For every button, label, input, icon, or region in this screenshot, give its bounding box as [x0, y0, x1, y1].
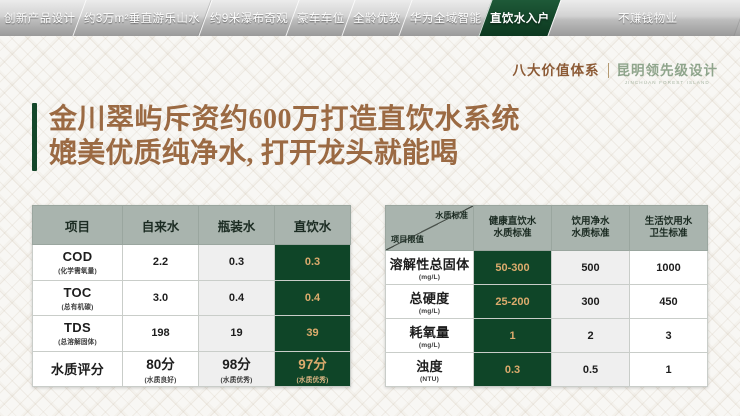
right-row-0-val-0: 50-300	[474, 251, 552, 285]
nav-tab-4-label: 全龄优教	[353, 10, 401, 26]
left-row-3-val-0-sub: (水质良好)	[123, 374, 198, 384]
left-row-0-name: COD	[63, 249, 93, 264]
brand-right-text: 昆明领先级设计	[617, 62, 719, 79]
right-row-3-sub: (NTU)	[386, 376, 473, 383]
nav-tab-1-label: 约3万m²垂直游乐山水	[84, 10, 200, 26]
left-row-2-val-2: 39	[275, 316, 351, 352]
nav-tab-3-label: 豪车车位	[297, 10, 345, 26]
right-row-0-label: 溶解性总固体 (mg/L)	[386, 251, 474, 285]
left-row-3-val-0: 80分 (水质良好)	[123, 351, 199, 387]
headline-block: 金川翠屿斥资约600万打造直饮水系统 媲美优质纯净水, 打开龙头就能喝	[32, 103, 520, 171]
left-row-2-sub: (总溶解固体)	[33, 336, 122, 346]
right-row-1-val-2: 450	[630, 285, 708, 319]
left-row-1-name: TOC	[63, 285, 91, 300]
nav-tab-7[interactable]: 不赚钱物业	[547, 0, 740, 36]
right-th-2-l2: 水质标准	[552, 228, 629, 240]
left-row-1-val-2: 0.4	[275, 280, 351, 316]
table-row: 浊度 (NTU) 0.3 0.5 1	[386, 353, 708, 387]
right-row-2-sub: (mg/L)	[386, 342, 473, 349]
right-row-2-val-1: 2	[552, 319, 630, 353]
right-th-2-l1: 饮用净水	[552, 216, 629, 228]
right-th-corner-top: 水质标准	[435, 210, 468, 222]
right-row-1-name: 总硬度	[410, 291, 450, 306]
left-row-2-val-1: 19	[199, 316, 275, 352]
brand-right-group: 昆明领先级设计 JINCHUAN FOREST ISLAND	[617, 62, 719, 85]
left-row-0-val-1: 0.3	[199, 245, 275, 281]
left-th-2: 瓶装水	[199, 206, 275, 245]
nav-tab-1[interactable]: 约3万m²垂直游乐山水	[73, 0, 211, 36]
nav-tab-0-label: 创新产品设计	[4, 10, 75, 26]
table-row: TOC (总有机碳) 3.0 0.4 0.4	[33, 280, 351, 316]
right-th-3: 生活饮用水 卫生标准	[630, 206, 708, 251]
left-row-3-val-1-sub: (水质优秀)	[199, 374, 274, 384]
nav-tab-2[interactable]: 约9米瀑布奇观	[198, 0, 298, 36]
headline-accent-bar	[32, 103, 37, 171]
table-row: COD (化学需氧量) 2.2 0.3 0.3	[33, 245, 351, 281]
left-row-0-val-0: 2.2	[123, 245, 199, 281]
nav-tab-2-label: 约9米瀑布奇观	[210, 10, 288, 26]
brand-left-text: 八大价值体系	[513, 62, 600, 79]
right-th-1-l2: 水质标准	[474, 228, 551, 240]
left-row-3-val-2-sub: (水质优秀)	[275, 374, 350, 384]
water-standards-table: 水质标准 项目限值 健康直饮水 水质标准 饮用净水 水质标准 生活饮用水 卫生标…	[385, 205, 708, 387]
right-table-header-row: 水质标准 项目限值 健康直饮水 水质标准 饮用净水 水质标准 生活饮用水 卫生标…	[386, 206, 708, 251]
right-row-1-val-1: 300	[552, 285, 630, 319]
left-row-2-val-0: 198	[123, 316, 199, 352]
right-th-3-l2: 卫生标准	[630, 228, 707, 240]
right-row-2-label: 耗氧量 (mg/L)	[386, 319, 474, 353]
right-th-corner-bottom: 项目限值	[391, 234, 424, 246]
right-row-2-val-2: 3	[630, 319, 708, 353]
left-row-3-val-1: 98分 (水质优秀)	[199, 351, 275, 387]
left-row-2-label: TDS (总溶解固体)	[33, 316, 123, 352]
right-row-3-val-1: 0.5	[552, 353, 630, 387]
right-row-0-val-2: 1000	[630, 251, 708, 285]
right-row-0-name: 溶解性总固体	[390, 257, 470, 272]
left-row-0-val-2: 0.3	[275, 245, 351, 281]
right-row-1-val-0: 25-200	[474, 285, 552, 319]
headline-text: 金川翠屿斥资约600万打造直饮水系统 媲美优质纯净水, 打开龙头就能喝	[49, 103, 520, 171]
brand-lockup: 八大价值体系 昆明领先级设计 JINCHUAN FOREST ISLAND	[513, 62, 719, 85]
right-row-1-sub: (mg/L)	[386, 308, 473, 315]
table-row: 耗氧量 (mg/L) 1 2 3	[386, 319, 708, 353]
nav-tab-5-label: 华为全域智能	[410, 10, 481, 26]
table-row: TDS (总溶解固体) 198 19 39	[33, 316, 351, 352]
left-row-1-val-0: 3.0	[123, 280, 199, 316]
left-row-1-label: TOC (总有机碳)	[33, 280, 123, 316]
left-row-0-label: COD (化学需氧量)	[33, 245, 123, 281]
left-row-3-val-2: 97分 (水质优秀)	[275, 351, 351, 387]
right-row-3-label: 浊度 (NTU)	[386, 353, 474, 387]
headline-line-1: 金川翠屿斥资约600万打造直饮水系统	[49, 103, 520, 137]
left-table-header-row: 项目 自来水 瓶装水 直饮水	[33, 206, 351, 245]
right-row-0-val-1: 500	[552, 251, 630, 285]
left-row-3-label: 水质评分	[33, 351, 123, 387]
tables-container: 项目 自来水 瓶装水 直饮水 COD (化学需氧量) 2.2 0.3 0.3 T…	[0, 205, 740, 387]
right-row-2-val-0: 1	[474, 319, 552, 353]
water-comparison-table: 项目 自来水 瓶装水 直饮水 COD (化学需氧量) 2.2 0.3 0.3 T…	[32, 205, 351, 387]
right-th-3-l1: 生活饮用水	[630, 216, 707, 228]
top-navigation: 创新产品设计 约3万m²垂直游乐山水 约9米瀑布奇观 豪车车位 全龄优教 华为全…	[0, 0, 740, 36]
left-th-1: 自来水	[123, 206, 199, 245]
table-row: 溶解性总固体 (mg/L) 50-300 500 1000	[386, 251, 708, 285]
right-th-2: 饮用净水 水质标准	[552, 206, 630, 251]
left-th-3: 直饮水	[275, 206, 351, 245]
brand-right-subtext: JINCHUAN FOREST ISLAND	[625, 80, 710, 85]
right-row-0-sub: (mg/L)	[386, 274, 473, 281]
left-row-2-name: TDS	[64, 320, 91, 335]
nav-tab-5[interactable]: 华为全域智能	[398, 0, 492, 36]
left-row-3-name: 水质评分	[51, 362, 104, 377]
nav-tab-7-label: 不赚钱物业	[618, 10, 678, 26]
right-row-2-name: 耗氧量	[410, 325, 450, 340]
left-row-3-val-1-num: 98分	[222, 357, 251, 372]
headline-line-2: 媲美优质纯净水, 打开龙头就能喝	[49, 137, 520, 171]
right-th-1-l1: 健康直饮水	[474, 216, 551, 228]
right-row-3-val-2: 1	[630, 353, 708, 387]
right-th-1: 健康直饮水 水质标准	[474, 206, 552, 251]
right-row-3-name: 浊度	[416, 359, 443, 374]
brand-divider	[608, 63, 609, 78]
left-th-0: 项目	[33, 206, 123, 245]
left-row-3-val-2-num: 97分	[298, 357, 327, 372]
left-row-1-sub: (总有机碳)	[33, 301, 122, 311]
table-row: 总硬度 (mg/L) 25-200 300 450	[386, 285, 708, 319]
left-row-3-val-0-num: 80分	[146, 357, 175, 372]
right-row-3-val-0: 0.3	[474, 353, 552, 387]
right-row-1-label: 总硬度 (mg/L)	[386, 285, 474, 319]
nav-tab-6-label: 直饮水入户	[490, 10, 550, 26]
right-th-corner: 水质标准 项目限值	[386, 206, 474, 251]
left-row-1-val-1: 0.4	[199, 280, 275, 316]
left-row-0-sub: (化学需氧量)	[33, 265, 122, 275]
table-row: 水质评分 80分 (水质良好) 98分 (水质优秀) 97分 (水质优秀)	[33, 351, 351, 387]
